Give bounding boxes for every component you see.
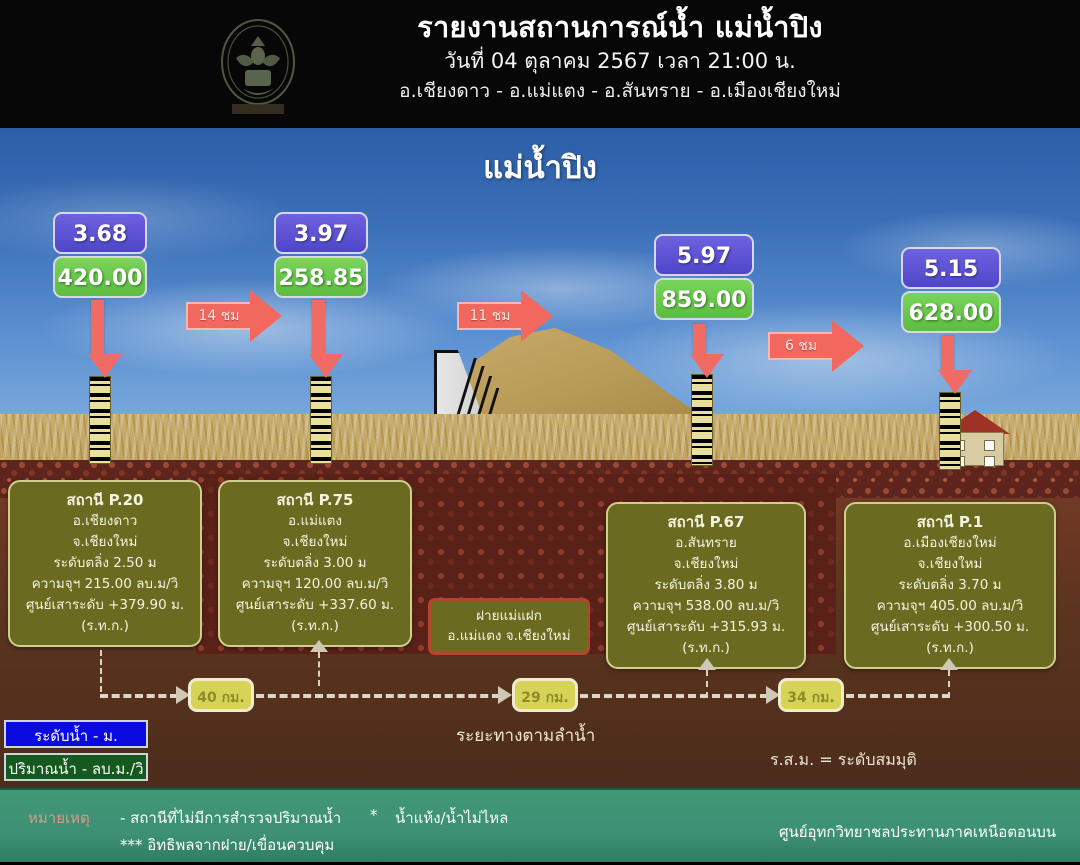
water-flow-badge: 628.00: [901, 291, 1001, 333]
station-name: สถานี P.67: [614, 511, 798, 533]
arrow-shaft: [312, 300, 325, 354]
connector-tick-p75: [318, 652, 320, 686]
footer-organization: ศูนย์อุทกวิทยาชลประทานภาคเหนือตอนบน: [779, 820, 1056, 844]
garuda-seal-icon: [214, 18, 302, 118]
station-name: สถานี P.20: [16, 489, 194, 511]
arrow-shaft: [941, 336, 954, 370]
station-bank-level: ระดับตลิ่ง 3.00 ม: [226, 553, 404, 574]
page-title: รายงานสถานการณ์น้ำ แม่น้ำปิง: [300, 8, 940, 46]
distance-badge-3: 34 กม.: [778, 678, 844, 712]
station-datum: ศูนย์เสาระดับ +337.60 ม.(ร.ท.ก.): [226, 595, 404, 637]
station-bank-level: ระดับตลิ่ง 3.80 ม: [614, 575, 798, 596]
arrow-head: [250, 290, 282, 342]
down-arrow-p20: [88, 300, 106, 378]
footer-bar: หมายเหตุ - สถานีที่ไม่มีการสำรวจปริมาณน้…: [0, 788, 1080, 865]
distance-dash-arrow-2: [498, 686, 512, 704]
water-flow-badge: 258.85: [274, 256, 368, 298]
arrow-head: [521, 290, 553, 342]
distance-dash-1b: [256, 694, 500, 698]
value-sign-p1[interactable]: 5.15 628.00: [901, 247, 1001, 333]
arrow-head: [938, 370, 972, 394]
distance-dash-1a: [100, 694, 178, 698]
station-bank-level: ระดับตลิ่ง 2.50 ม: [16, 553, 194, 574]
water-level-badge: 5.15: [901, 247, 1001, 289]
connector-tick-p20: [100, 650, 102, 692]
river-name-label: แม่น้ำปิง: [0, 142, 1080, 192]
down-arrow-p67: [690, 324, 708, 378]
distance-dash-2b: [580, 694, 768, 698]
distance-axis-caption: ระยะทางตามลำน้ำ: [456, 722, 595, 749]
water-flow-badge: 859.00: [654, 278, 754, 320]
water-level-badge: 3.68: [53, 212, 147, 254]
water-level-badge: 3.97: [274, 212, 368, 254]
station-province: จ.เชียงใหม่: [226, 532, 404, 553]
station-district: อ.เมืองเชียงใหม่: [852, 533, 1048, 554]
footer-note-star-symbol: *: [370, 806, 378, 824]
distance-badge-2: 29 กม.: [512, 678, 578, 712]
station-district: อ.เชียงดาว: [16, 511, 194, 532]
station-name: สถานี P.75: [226, 489, 404, 511]
station-datum: ศูนย์เสาระดับ +300.50 ม.(ร.ท.ก.): [852, 617, 1048, 659]
down-arrow-p75: [309, 300, 327, 378]
footer-note-weir-influence: *** อิทธิพลจากฝาย/เขื่อนควบคุม: [120, 833, 334, 857]
station-province: จ.เชียงใหม่: [852, 554, 1048, 575]
value-sign-p67[interactable]: 5.97 859.00: [654, 234, 754, 320]
connector-arrow-p1: [940, 658, 958, 670]
infographic-root: รายงานสถานการณ์น้ำ แม่น้ำปิง วันที่ 04 ต…: [0, 0, 1080, 865]
down-arrow-p1: [938, 336, 956, 394]
travel-time-label: 6 ชม: [768, 332, 834, 360]
header-bar: รายงานสถานการณ์น้ำ แม่น้ำปิง วันที่ 04 ต…: [0, 0, 1080, 128]
arrow-head: [88, 354, 122, 378]
station-capacity: ความจุฯ 405.00 ลบ.ม/วิ: [852, 596, 1048, 617]
house-window-4: [984, 456, 995, 467]
station-card-p67[interactable]: สถานี P.67 อ.สันทราย จ.เชียงใหม่ ระดับตล…: [606, 502, 806, 669]
connector-arrow-p67: [698, 658, 716, 670]
staff-gauge-p75: [310, 376, 332, 464]
station-capacity: ความจุฯ 120.00 ลบ.ม/วิ: [226, 574, 404, 595]
arrow-shaft: [693, 324, 706, 354]
station-capacity: ความจุฯ 215.00 ลบ.ม/วิ: [16, 574, 194, 595]
distance-dash-3b: [846, 694, 950, 698]
weir-location: อ.แม่แตง จ.เชียงใหม่: [435, 626, 583, 646]
value-sign-p75[interactable]: 3.97 258.85: [274, 212, 368, 298]
footer-note-dry: น้ำแห้ง/น้ำไม่ไหล: [395, 806, 508, 830]
staff-gauge-p1: [939, 392, 961, 470]
station-bank-level: ระดับตลิ่ง 3.70 ม: [852, 575, 1048, 596]
station-province: จ.เชียงใหม่: [614, 554, 798, 575]
travel-time-arrow-2: 11 ชม: [457, 290, 553, 342]
value-sign-p20[interactable]: 3.68 420.00: [53, 212, 147, 298]
water-level-badge: 5.97: [654, 234, 754, 276]
station-card-p20[interactable]: สถานี P.20 อ.เชียงดาว จ.เชียงใหม่ ระดับต…: [8, 480, 202, 647]
weir-name: ฝายแม่แฝก: [435, 606, 583, 626]
station-card-p1[interactable]: สถานี P.1 อ.เมืองเชียงใหม่ จ.เชียงใหม่ ร…: [844, 502, 1056, 669]
station-name: สถานี P.1: [852, 511, 1048, 533]
arrow-head: [832, 320, 864, 372]
station-district: อ.แม่แตง: [226, 511, 404, 532]
station-datum: ศูนย์เสาระดับ +315.93 ม.(ร.ท.ก.): [614, 617, 798, 659]
footer-note-label: หมายเหตุ: [28, 806, 90, 830]
arrow-head: [690, 354, 724, 378]
station-datum: ศูนย์เสาระดับ +379.90 ม.(ร.ท.ก.): [16, 595, 194, 637]
arrow-head: [309, 354, 343, 378]
footer-note-no-survey: - สถานีที่ไม่มีการสำรวจปริมาณน้ำ: [120, 806, 341, 830]
header-text-block: รายงานสถานการณ์น้ำ แม่น้ำปิง วันที่ 04 ต…: [300, 8, 940, 106]
travel-time-arrow-3: 6 ชม: [768, 320, 864, 372]
water-flow-badge: 420.00: [53, 256, 147, 298]
staff-gauge-p67: [691, 374, 713, 466]
house-window-2: [984, 440, 995, 451]
connector-arrow-p75: [310, 640, 328, 652]
station-district: อ.สันทราย: [614, 533, 798, 554]
staff-gauge-p20: [89, 376, 111, 464]
rsm-definition-note: ร.ส.ม. = ระดับสมมุติ: [770, 748, 917, 773]
travel-time-label: 11 ชม: [457, 302, 523, 330]
districts-line: อ.เชียงดาว - อ.แม่แตง - อ.สันทราย - อ.เม…: [300, 77, 940, 106]
station-capacity: ความจุฯ 538.00 ลบ.ม/วิ: [614, 596, 798, 617]
legend-water-flow: ปริมาณน้ำ - ลบ.ม./วิ: [4, 753, 148, 781]
arrow-shaft: [91, 300, 104, 354]
report-datetime: วันที่ 04 ตุลาคม 2567 เวลา 21:00 น.: [300, 46, 940, 77]
river-scene: แม่น้ำปิง: [0, 128, 1080, 788]
station-province: จ.เชียงใหม่: [16, 532, 194, 553]
travel-time-arrow-1: 14 ชม: [186, 290, 282, 342]
distance-badge-1: 40 กม.: [188, 678, 254, 712]
legend-water-level: ระดับน้ำ - ม. (ร.ส.ม.): [4, 720, 148, 748]
travel-time-label: 14 ชม: [186, 302, 252, 330]
weir-card[interactable]: ฝายแม่แฝก อ.แม่แตง จ.เชียงใหม่: [428, 598, 590, 655]
station-card-p75[interactable]: สถานี P.75 อ.แม่แตง จ.เชียงใหม่ ระดับตลิ…: [218, 480, 412, 647]
